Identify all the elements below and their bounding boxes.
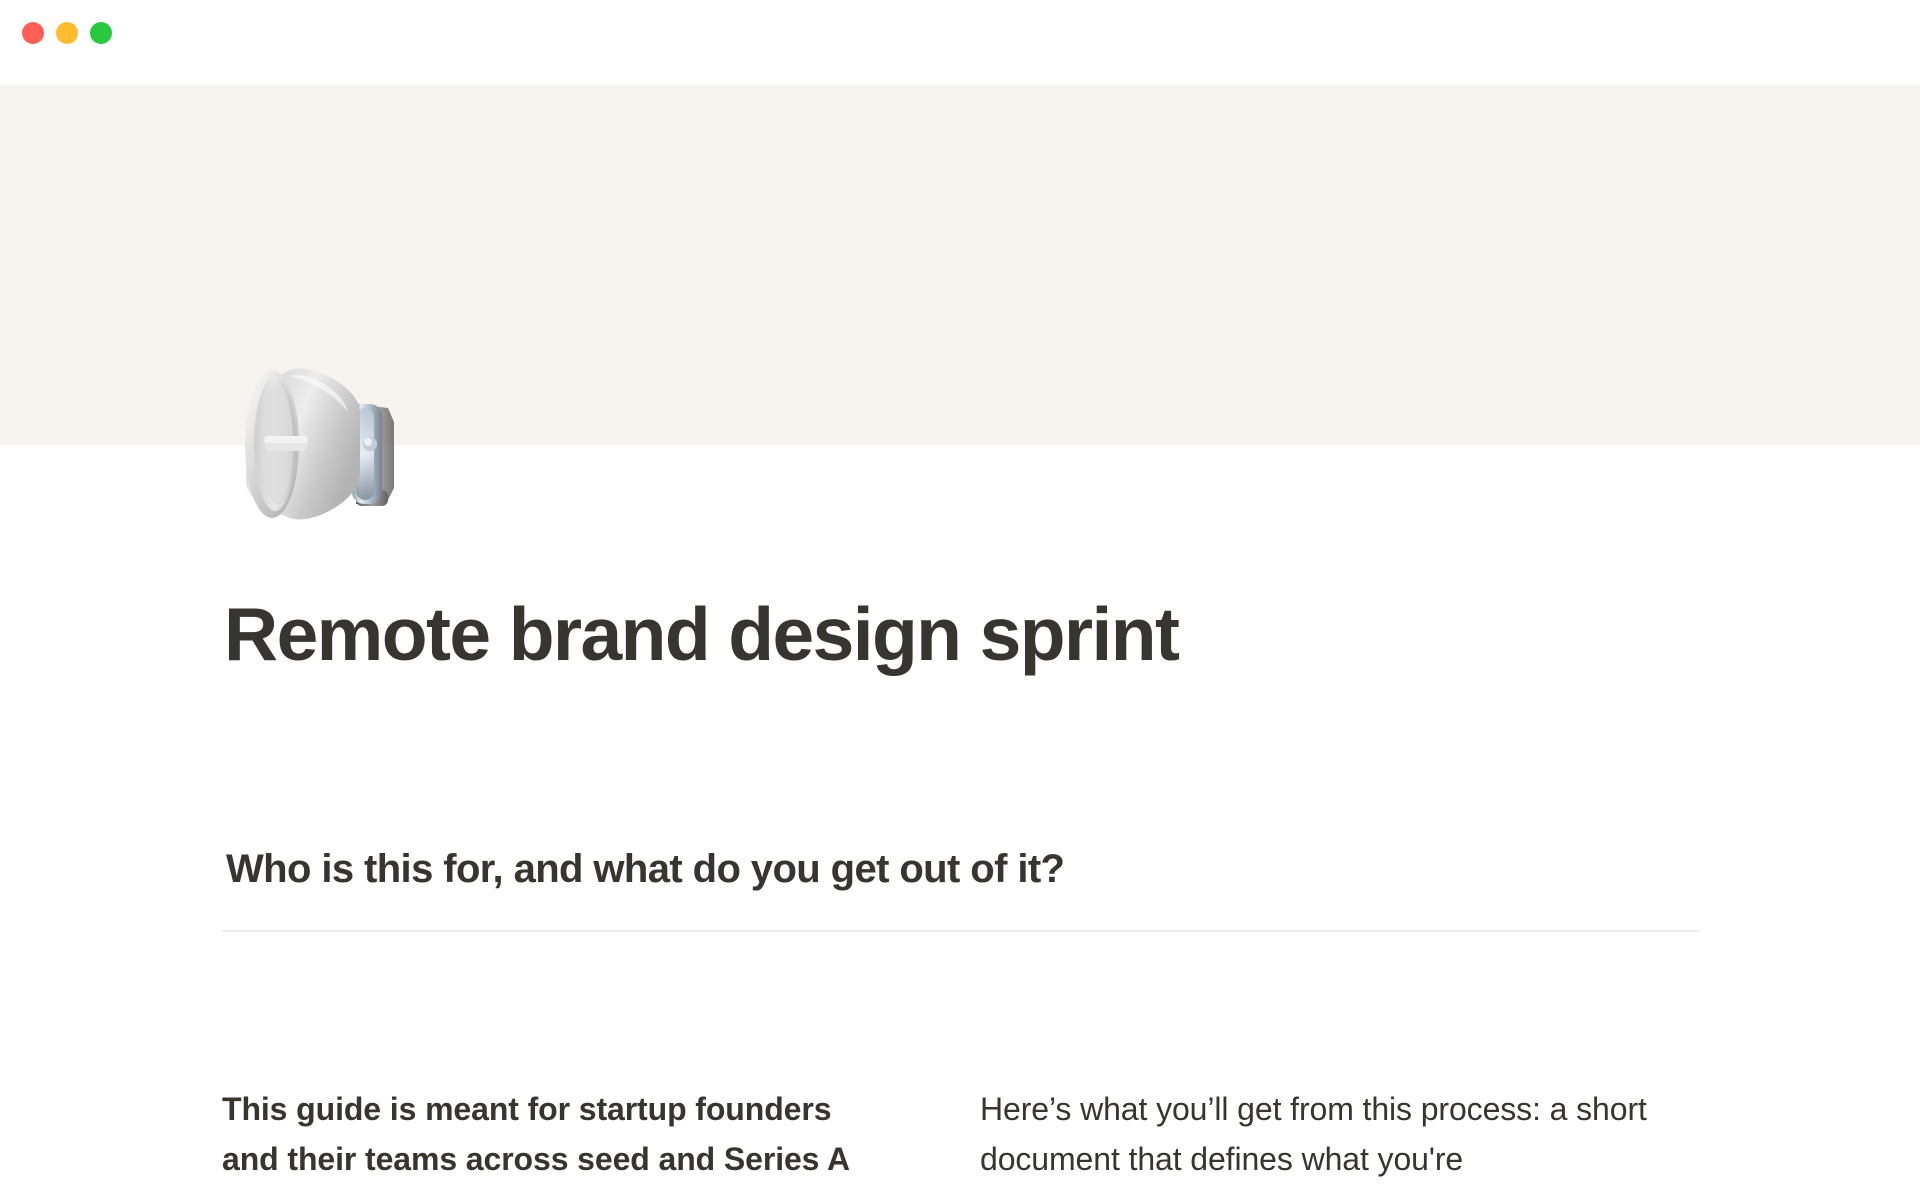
loudspeaker-icon[interactable] bbox=[228, 348, 418, 538]
column-right: Here’s what you’ll get from this process… bbox=[967, 1085, 1712, 1184]
column-left-paragraph[interactable]: This guide is meant for startup founders… bbox=[222, 1085, 862, 1184]
close-window-button[interactable] bbox=[22, 22, 44, 44]
section-divider bbox=[222, 930, 1700, 932]
document-page: Remote brand design sprint Who is this f… bbox=[0, 85, 1920, 1200]
column-right-paragraph[interactable]: Here’s what you’ll get from this process… bbox=[980, 1085, 1712, 1184]
section-heading-who-is-this-for[interactable]: Who is this for, and what do you get out… bbox=[226, 843, 1706, 895]
two-column-block: This guide is meant for startup founders… bbox=[222, 1085, 1712, 1184]
column-left: This guide is meant for startup founders… bbox=[222, 1085, 967, 1184]
traffic-light-group bbox=[22, 22, 112, 44]
window-titlebar bbox=[0, 0, 1920, 85]
maximize-window-button[interactable] bbox=[90, 22, 112, 44]
app-window: Remote brand design sprint Who is this f… bbox=[0, 0, 1920, 1200]
minimize-window-button[interactable] bbox=[56, 22, 78, 44]
page-title[interactable]: Remote brand design sprint bbox=[224, 590, 1724, 679]
